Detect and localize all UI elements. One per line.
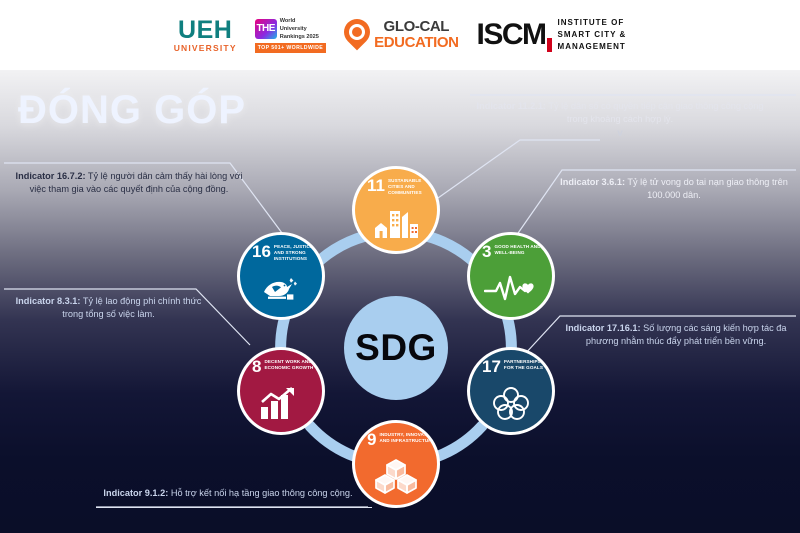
city-buildings-icon bbox=[355, 196, 437, 251]
sdg-17-number: 17 bbox=[482, 359, 501, 374]
annotation-ind-9-1-2: Indicator 9.1.2: Hỗ trợ kết nối hạ tầng … bbox=[92, 487, 364, 500]
annotation-ind-8-3-1: Indicator 8.3.1: Tỷ lệ lao động phi chín… bbox=[6, 295, 211, 321]
the-footer-band: TOP 501+ WORLDWIDE bbox=[255, 43, 326, 53]
the-line2: University bbox=[280, 25, 319, 33]
sdg-9-caption: INDUSTRY, INNOVATION AND INFRASTRUCTURE bbox=[379, 432, 437, 444]
glocal-line2: EDUCATION bbox=[374, 35, 458, 51]
sdg-node-3[interactable]: 3 GOOD HEALTH AND WELL-BEING bbox=[467, 232, 555, 320]
ueh-logo-main: UEH bbox=[178, 18, 232, 43]
sdg-node-11[interactable]: 11 SUSTAINABLE CITIES AND COMMUNITIES bbox=[352, 166, 440, 254]
sdg-16-number: 16 bbox=[252, 244, 271, 259]
sdg-11-caption: SUSTAINABLE CITIES AND COMMUNITIES bbox=[388, 178, 437, 196]
growth-chart-icon bbox=[240, 374, 322, 432]
sdg-node-16[interactable]: 16 PEACE, JUSTICE AND STRONG INSTITUTION… bbox=[237, 232, 325, 320]
iscm-wordmark: ISCM bbox=[477, 18, 546, 51]
page-title: ĐÓNG GÓP bbox=[18, 88, 246, 133]
annotation-ind-17-16-1: Indicator 17.16.1: Số lượng các sáng kiế… bbox=[556, 322, 796, 348]
glo-cal-education-logo: GLO-CAL EDUCATION bbox=[344, 19, 458, 51]
chevron-down-icon: v bbox=[470, 127, 770, 141]
interlocking-circles-icon bbox=[470, 374, 552, 432]
indicator-label-8-3-1: Indicator 8.3.1: bbox=[16, 296, 81, 306]
rule-9-1-2 bbox=[96, 507, 372, 508]
map-pin-globe-icon bbox=[344, 19, 370, 51]
indicator-text-9-1-2: Hỗ trợ kết nối hạ tầng giao thông công c… bbox=[168, 488, 352, 498]
ueh-logo-sub: UNIVERSITY bbox=[174, 44, 237, 53]
infographic-canvas: UEH UNIVERSITY THE World University Rank… bbox=[0, 0, 800, 533]
sdg-8-caption: DECENT WORK AND ECONOMIC GROWTH bbox=[264, 359, 322, 371]
the-line1: World bbox=[280, 17, 319, 25]
the-badge: THE bbox=[255, 19, 277, 39]
iscm-accent-dot bbox=[547, 38, 552, 52]
the-line3: Rankings 2025 bbox=[280, 33, 319, 41]
sdg-9-number: 9 bbox=[367, 432, 376, 447]
annotation-ind-11-2-1: Indicator 11.2.1: Tỷ lệ dân số có quyền … bbox=[470, 100, 770, 141]
ueh-logo: UEH UNIVERSITY bbox=[174, 18, 237, 53]
annotation-ind-3-6-1: Indicator 3.6.1: Tỷ lệ tử vong do tai nạ… bbox=[558, 176, 790, 202]
sdg-node-8[interactable]: 8 DECENT WORK AND ECONOMIC GROWTH bbox=[237, 347, 325, 435]
sdg-center-hub: SDG bbox=[344, 296, 448, 400]
heartbeat-icon bbox=[470, 259, 552, 317]
dove-gavel-icon bbox=[240, 262, 322, 317]
iscm-line2: SMART CITY & bbox=[558, 29, 627, 41]
sdg-node-9[interactable]: 9 INDUSTRY, INNOVATION AND INFRASTRUCTUR… bbox=[352, 420, 440, 508]
indicator-label-17-16-1: Indicator 17.16.1: bbox=[566, 323, 641, 333]
indicator-label-9-1-2: Indicator 9.1.2: bbox=[103, 488, 168, 498]
glocal-line1: GLO-CAL bbox=[384, 19, 450, 35]
indicator-label-3-6-1: Indicator 3.6.1: bbox=[560, 177, 625, 187]
the-rankings-logo: THE World University Rankings 2025 TOP 5… bbox=[255, 17, 326, 53]
indicator-text-8-3-1: Tỷ lệ lao động phi chính thức trong tổng… bbox=[62, 296, 201, 319]
iscm-logo: ISCM INSTITUTE OF SMART CITY & MANAGEMEN… bbox=[477, 17, 627, 53]
indicator-label-11-2-1: Indicator 11.2.1: bbox=[477, 101, 546, 111]
sdg-node-17[interactable]: 17 PARTNERSHIPS FOR THE GOALS bbox=[467, 347, 555, 435]
sdg-center-label: SDG bbox=[355, 327, 437, 369]
partner-logo-bar: UEH UNIVERSITY THE World University Rank… bbox=[0, 0, 800, 70]
sdg-8-number: 8 bbox=[252, 359, 261, 374]
sdg-3-caption: GOOD HEALTH AND WELL-BEING bbox=[494, 244, 552, 256]
sdg-3-number: 3 bbox=[482, 244, 491, 259]
indicator-text-11-2-1: Tỷ lệ dân số có quyền tiếp cận giao thôn… bbox=[546, 101, 763, 124]
annotation-ind-16-7-2: Indicator 16.7.2: Tỷ lệ người dân cảm th… bbox=[14, 170, 244, 196]
iscm-line3: MANAGEMENT bbox=[558, 41, 627, 53]
cubes-icon bbox=[355, 447, 437, 505]
sdg-11-number: 11 bbox=[367, 178, 385, 193]
indicator-label-16-7-2: Indicator 16.7.2: bbox=[16, 171, 86, 181]
iscm-line1: INSTITUTE OF bbox=[558, 17, 627, 29]
indicator-text-3-6-1: Tỷ lệ tử vong do tai nạn giao thông trên… bbox=[625, 177, 788, 200]
